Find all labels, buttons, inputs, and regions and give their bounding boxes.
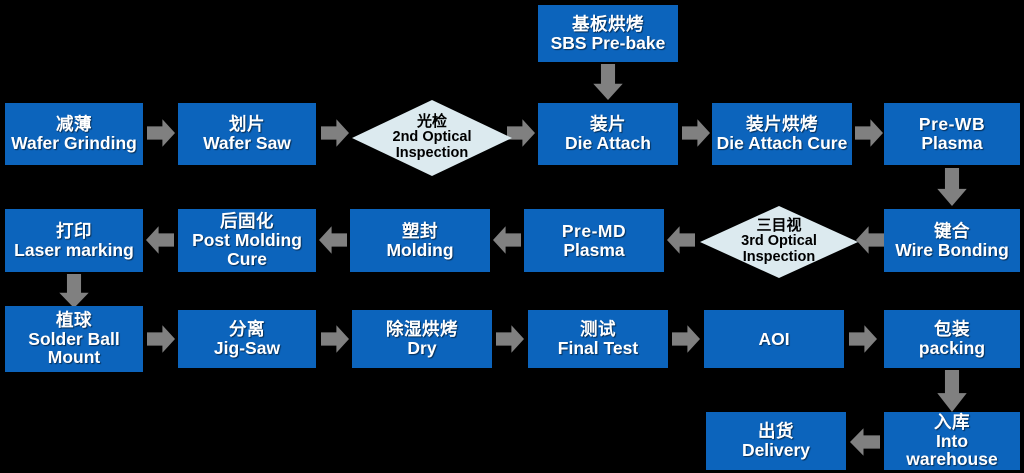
node-wafer-saw[interactable]: 划片Wafer Saw [178,103,316,165]
node-into-warehouse[interactable]: 入库Into warehouse [884,412,1020,470]
node-sbs-pre-bake[interactable]: 基板烘烤SBS Pre-bake [538,5,678,62]
node-label-cn-dry: 除湿烘烤 [386,320,458,339]
node-wire-bonding[interactable]: 键合Wire Bonding [884,209,1020,272]
node-delivery[interactable]: 出货Delivery [706,412,846,470]
node-label-cn-pre-wb-plasma: Pre-WB [919,115,985,134]
node-packing[interactable]: 包装packing [884,310,1020,368]
node-2nd-optical[interactable]: 光检2nd OpticalInspection [352,100,512,176]
arrow-die-attach-to-cure [682,118,710,148]
arrow-wire-bonding-to-3rd-optical [856,225,884,255]
node-label-cn-die-attach: 装片 [590,115,626,134]
node-label-en-dry: Dry [407,339,436,358]
node-label-en-solder-ball-mount-2: Mount [48,348,100,367]
node-die-attach[interactable]: 装片Die Attach [538,103,678,165]
arrow-jig-saw-to-dry [321,324,349,354]
arrow-molding-to-post-molding-cure [319,225,347,255]
node-die-attach-cure[interactable]: 装片烘烤Die Attach Cure [712,103,852,165]
node-label-en-pre-md-plasma: Plasma [563,241,624,260]
node-label-en-wafer-saw: Wafer Saw [203,134,291,153]
node-label-en-die-attach-cure: Die Attach Cure [717,134,848,153]
node-pre-md-plasma[interactable]: Pre-MDPlasma [524,209,664,272]
node-label-en-die-attach: Die Attach [565,134,651,153]
node-jig-saw[interactable]: 分离Jig-Saw [178,310,316,368]
node-label-en-post-molding-cure-1: Post Molding [192,231,302,250]
node-label-cn-3rd-optical: 三目视 [756,218,801,234]
node-solder-ball-mount[interactable]: 植球Solder BallMount [5,306,143,372]
arrow-aoi-to-packing [849,324,877,354]
node-pre-wb-plasma[interactable]: Pre-WBPlasma [884,103,1020,165]
arrow-grinding-to-saw [147,118,175,148]
node-label-cn-sbs-pre-bake: 基板烘烤 [572,15,644,34]
node-label-en-post-molding-cure-2: Cure [227,250,267,269]
node-label-cn-die-attach-cure: 装片烘烤 [746,115,818,134]
node-label-en-molding: Molding [386,241,453,260]
node-label-cn-2nd-optical: 光检 [417,114,447,130]
node-dry[interactable]: 除湿烘烤Dry [352,310,492,368]
node-label-en-into-warehouse: Into warehouse [888,432,1016,470]
node-label-en-wire-bonding: Wire Bonding [895,241,1009,260]
node-label-en-2nd-optical-1: 2nd Optical [393,130,472,146]
flowchart-canvas: 基板烘烤SBS Pre-bake减薄Wafer Grinding划片Wafer … [0,0,1024,473]
arrow-warehouse-to-delivery [850,427,880,457]
node-molding[interactable]: 塑封Molding [350,209,490,272]
node-laser-marking[interactable]: 打印Laser marking [5,209,143,272]
node-label-cn-final-test: 测试 [580,320,616,339]
arrow-laser-to-solder-ball [58,274,90,308]
node-wafer-grinding[interactable]: 减薄Wafer Grinding [5,103,143,165]
node-label-en-jig-saw: Jig-Saw [214,339,280,358]
arrow-post-molding-to-laser [146,225,174,255]
arrow-3rd-optical-to-pre-md [667,225,695,255]
node-label-cn-packing: 包装 [934,320,970,339]
node-label-en-2nd-optical-2: Inspection [396,146,469,162]
node-3rd-optical[interactable]: 三目视3rd OpticalInspection [700,206,858,278]
node-aoi[interactable]: AOI [704,310,844,368]
node-label-cn-wafer-grinding: 减薄 [56,115,92,134]
node-label-en-aoi: AOI [758,330,789,349]
node-label-en-sbs-pre-bake: SBS Pre-bake [551,34,666,53]
node-label-cn-molding: 塑封 [402,222,438,241]
node-label-en-final-test: Final Test [558,339,638,358]
arrow-saw-to-2nd-optical [321,118,349,148]
node-label-cn-pre-md-plasma: Pre-MD [562,222,626,241]
arrow-sbs-to-die-attach [592,64,624,100]
node-label-cn-wafer-saw: 划片 [229,115,265,134]
node-label-en-3rd-optical-2: Inspection [743,250,816,266]
node-label-en-wafer-grinding: Wafer Grinding [11,134,137,153]
node-label-en-pre-wb-plasma: Plasma [921,134,982,153]
arrow-cure-to-pre-wb [855,118,883,148]
node-post-molding-cure[interactable]: 后固化Post MoldingCure [178,209,316,272]
node-label-en-packing: packing [919,339,985,358]
node-label-en-solder-ball-mount-1: Solder Ball [28,330,119,349]
node-label-cn-into-warehouse: 入库 [934,413,970,432]
node-label-cn-jig-saw: 分离 [229,320,265,339]
node-label-en-delivery: Delivery [742,441,810,460]
node-label-en-3rd-optical-1: 3rd Optical [741,234,817,250]
arrow-pre-wb-to-wire-bonding [936,168,968,206]
node-label-cn-post-molding-cure: 后固化 [220,212,274,231]
node-label-cn-delivery: 出货 [758,422,794,441]
node-label-cn-laser-marking: 打印 [56,222,92,241]
arrow-dry-to-final-test [496,324,524,354]
arrow-packing-to-warehouse [936,370,968,412]
arrow-final-test-to-aoi [672,324,700,354]
arrow-solder-ball-to-jig-saw [147,324,175,354]
node-label-en-laser-marking: Laser marking [14,241,134,260]
node-label-cn-wire-bonding: 键合 [934,222,970,241]
arrow-pre-md-to-molding [493,225,521,255]
node-final-test[interactable]: 测试Final Test [528,310,668,368]
node-label-cn-solder-ball-mount: 植球 [56,311,92,330]
